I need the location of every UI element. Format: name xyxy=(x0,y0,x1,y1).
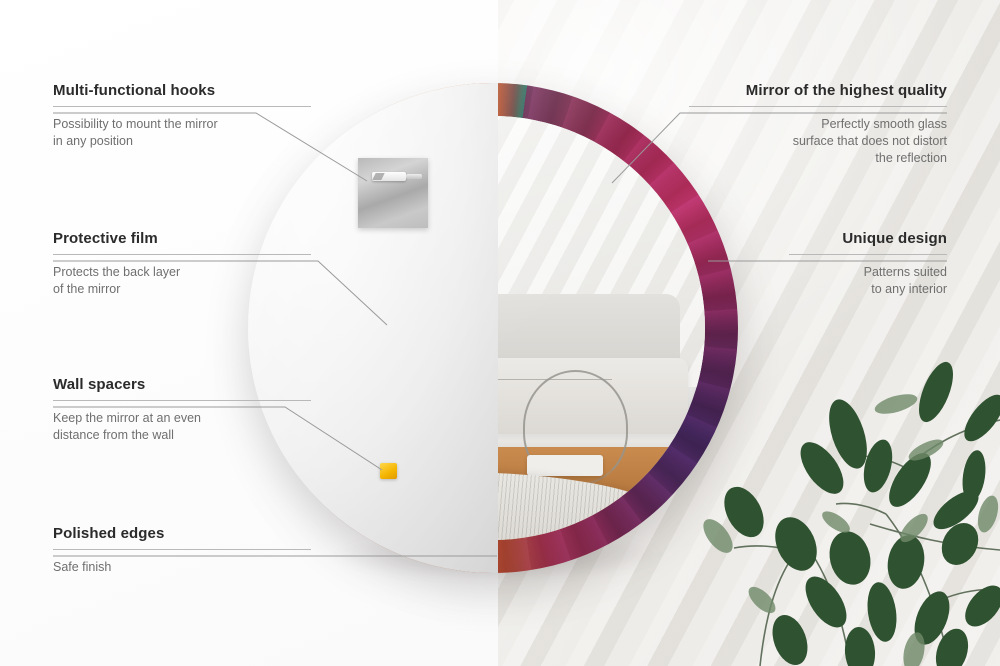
callout-title: Wall spacers xyxy=(53,376,311,393)
callout-title: Unique design xyxy=(789,230,947,247)
hook-plate xyxy=(358,158,428,228)
callout-title: Protective film xyxy=(53,230,311,247)
callout-description: Possibility to mount the mirror in any p… xyxy=(53,116,311,150)
callout-rule xyxy=(689,106,947,107)
callout-description: Keep the mirror at an even distance from… xyxy=(53,410,311,444)
callout-mirror-of-the-highest-quality: Mirror of the highest quality Perfectly … xyxy=(689,82,947,167)
callout-rule xyxy=(53,254,311,255)
hook-bar-icon xyxy=(406,174,422,179)
callout-rule xyxy=(53,400,311,401)
round-mirror xyxy=(248,83,738,573)
callout-rule xyxy=(53,549,311,550)
callout-protective-film: Protective film Protects the back layer … xyxy=(53,230,311,298)
callout-multi-functional-hooks: Multi-functional hooks Possibility to mo… xyxy=(53,82,311,150)
callout-title: Mirror of the highest quality xyxy=(689,82,947,99)
callout-title: Polished edges xyxy=(53,525,311,542)
callout-polished-edges: Polished edges Safe finish xyxy=(53,525,311,576)
callout-description: Safe finish xyxy=(53,559,311,576)
callout-description: Protects the back layer of the mirror xyxy=(53,264,311,298)
product-infographic: Multi-functional hooks Possibility to mo… xyxy=(0,0,1000,666)
wall-spacer-part xyxy=(380,463,397,479)
callout-wall-spacers: Wall spacers Keep the mirror at an even … xyxy=(53,376,311,444)
callout-rule xyxy=(789,254,947,255)
callout-rule xyxy=(53,106,311,107)
callout-description: Patterns suited to any interior xyxy=(789,264,947,298)
hook-slot-icon xyxy=(372,172,406,181)
callout-unique-design: Unique design Patterns suited to any int… xyxy=(789,230,947,298)
callout-title: Multi-functional hooks xyxy=(53,82,311,99)
callout-description: Perfectly smooth glass surface that does… xyxy=(689,116,947,167)
